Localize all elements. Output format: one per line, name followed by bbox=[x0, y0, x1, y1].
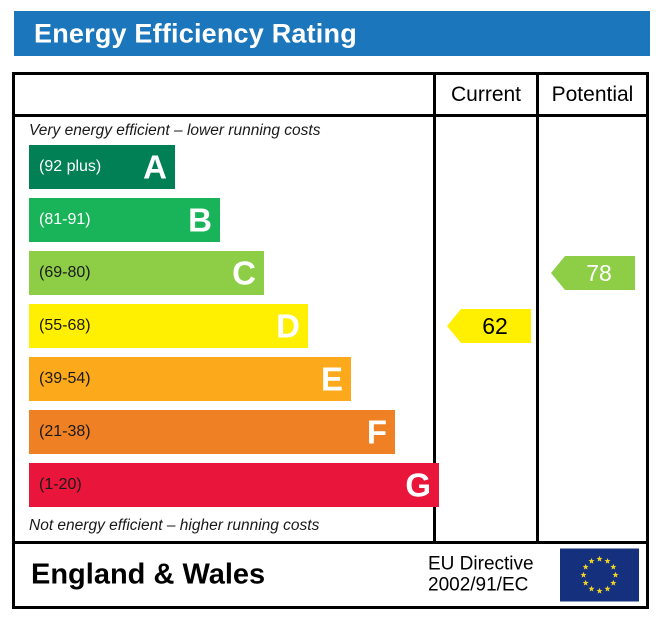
caption-very-efficient: Very energy efficient – lower running co… bbox=[29, 122, 321, 140]
band-letter-label: E bbox=[321, 363, 343, 396]
region-label: England & Wales bbox=[31, 559, 265, 592]
table-header-row: Current Potential bbox=[15, 75, 646, 117]
column-divider-potential bbox=[536, 117, 539, 541]
band-letter-label: A bbox=[143, 151, 167, 184]
band-range-label: (21-38) bbox=[39, 423, 91, 441]
table-body: Very energy efficient – lower running co… bbox=[15, 117, 646, 544]
current-rating-value: 62 bbox=[482, 313, 508, 340]
rating-bands-group: (92 plus)A(81-91)B(69-80)C(55-68)D(39-54… bbox=[15, 145, 433, 515]
rating-band-f: (21-38)F bbox=[29, 410, 395, 454]
chart-title-banner: Energy Efficiency Rating bbox=[14, 11, 650, 56]
column-header-potential: Potential bbox=[536, 75, 646, 114]
band-range-label: (92 plus) bbox=[39, 158, 101, 176]
energy-efficiency-certificate: Energy Efficiency Rating Current Potenti… bbox=[0, 0, 664, 622]
eu-directive-line1: EU Directive bbox=[428, 554, 534, 575]
band-range-label: (81-91) bbox=[39, 211, 91, 229]
rating-band-g: (1-20)G bbox=[29, 463, 439, 507]
band-range-label: (1-20) bbox=[39, 476, 82, 494]
band-letter-label: B bbox=[188, 204, 212, 237]
rating-band-c: (69-80)C bbox=[29, 251, 264, 295]
band-letter-label: F bbox=[367, 416, 387, 449]
rating-band-a: (92 plus)A bbox=[29, 145, 175, 189]
band-letter-label: D bbox=[276, 310, 300, 343]
band-range-label: (39-54) bbox=[39, 370, 91, 388]
table-footer-row: England & Wales EU Directive 2002/91/EC bbox=[15, 544, 646, 606]
band-letter-label: G bbox=[405, 469, 431, 502]
potential-rating-marker: 78 bbox=[551, 256, 635, 290]
potential-rating-value: 78 bbox=[586, 260, 612, 287]
band-range-label: (69-80) bbox=[39, 264, 91, 282]
eu-directive-label: EU Directive 2002/91/EC bbox=[428, 554, 534, 597]
current-rating-marker: 62 bbox=[447, 309, 531, 343]
eu-flag-icon bbox=[560, 549, 639, 602]
rating-band-d: (55-68)D bbox=[29, 304, 308, 348]
caption-not-efficient: Not energy efficient – higher running co… bbox=[29, 517, 319, 535]
column-header-current: Current bbox=[433, 75, 536, 114]
rating-band-e: (39-54)E bbox=[29, 357, 351, 401]
band-range-label: (55-68) bbox=[39, 317, 91, 335]
eu-directive-line2: 2002/91/EC bbox=[428, 575, 534, 596]
rating-band-b: (81-91)B bbox=[29, 198, 220, 242]
table-header-scale-cell bbox=[15, 75, 433, 114]
band-letter-label: C bbox=[232, 257, 256, 290]
rating-table: Current Potential Very energy efficient … bbox=[12, 72, 649, 609]
page-title: Energy Efficiency Rating bbox=[34, 18, 357, 49]
